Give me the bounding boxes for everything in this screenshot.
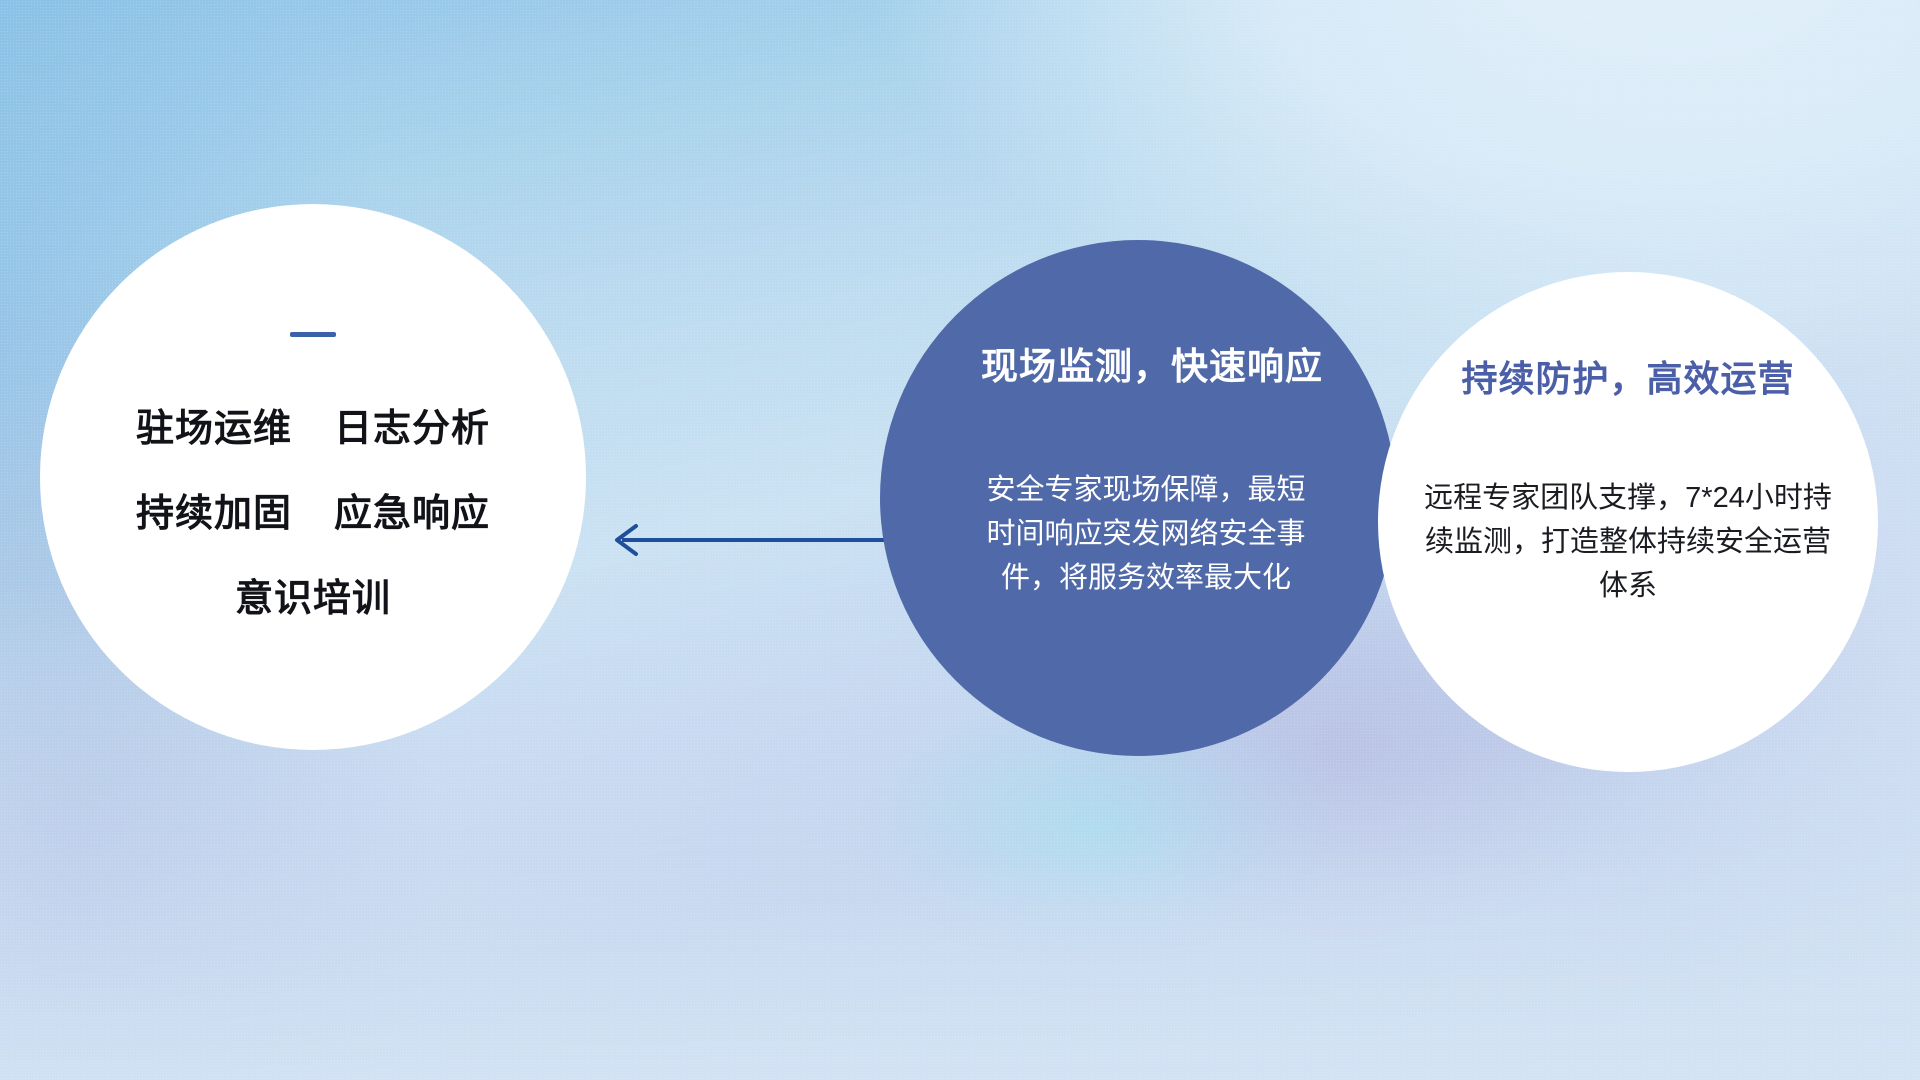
right-circle-title: 持续防护，高效运营 [1461,350,1794,402]
center-circle-body: 安全专家现场保障，最短时间响应突发网络安全事件，将服务效率最大化 [981,468,1311,600]
capability-circle-left: 驻场运维 日志分析 持续加固 应急响应 意识培训 [40,204,586,750]
capability-circle-center: 现场监测，快速响应 安全专家现场保障，最短时间响应突发网络安全事件，将服务效率最… [880,240,1396,756]
capability-tag: 意识培训 [235,567,391,622]
capability-tag: 驻场运维 [136,397,292,452]
accent-dash [290,332,336,337]
right-circle-body: 远程专家团队支撑，7*24小时持续监测，打造整体持续安全运营体系 [1418,476,1838,608]
capability-circle-right: 持续防护，高效运营 远程专家团队支撑，7*24小时持续监测，打造整体持续安全运营… [1378,272,1878,772]
capability-tag-row: 驻场运维 日志分析 [136,397,490,452]
capability-tag-row: 持续加固 应急响应 [136,482,490,537]
capability-tag-row: 意识培训 [235,567,391,622]
capability-tag: 日志分析 [334,397,490,452]
leftward-flow-arrow-icon [600,512,890,568]
slide-canvas: 驻场运维 日志分析 持续加固 应急响应 意识培训 现场监测，快速响应 安全专家现… [0,0,1920,1080]
capability-tag-list: 驻场运维 日志分析 持续加固 应急响应 意识培训 [136,397,490,622]
capability-tag: 持续加固 [136,482,292,537]
capability-tag: 应急响应 [334,482,490,537]
center-circle-title: 现场监测，快速响应 [981,336,1323,390]
